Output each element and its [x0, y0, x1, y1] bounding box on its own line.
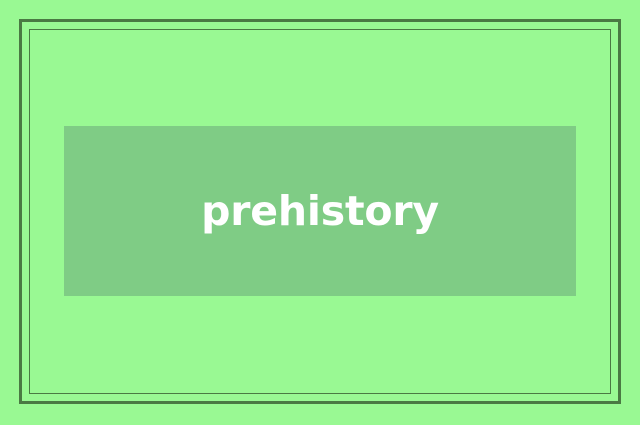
content-panel: prehistory [64, 126, 576, 296]
slide-canvas: prehistory [0, 0, 640, 425]
page-title: prehistory [201, 191, 439, 232]
